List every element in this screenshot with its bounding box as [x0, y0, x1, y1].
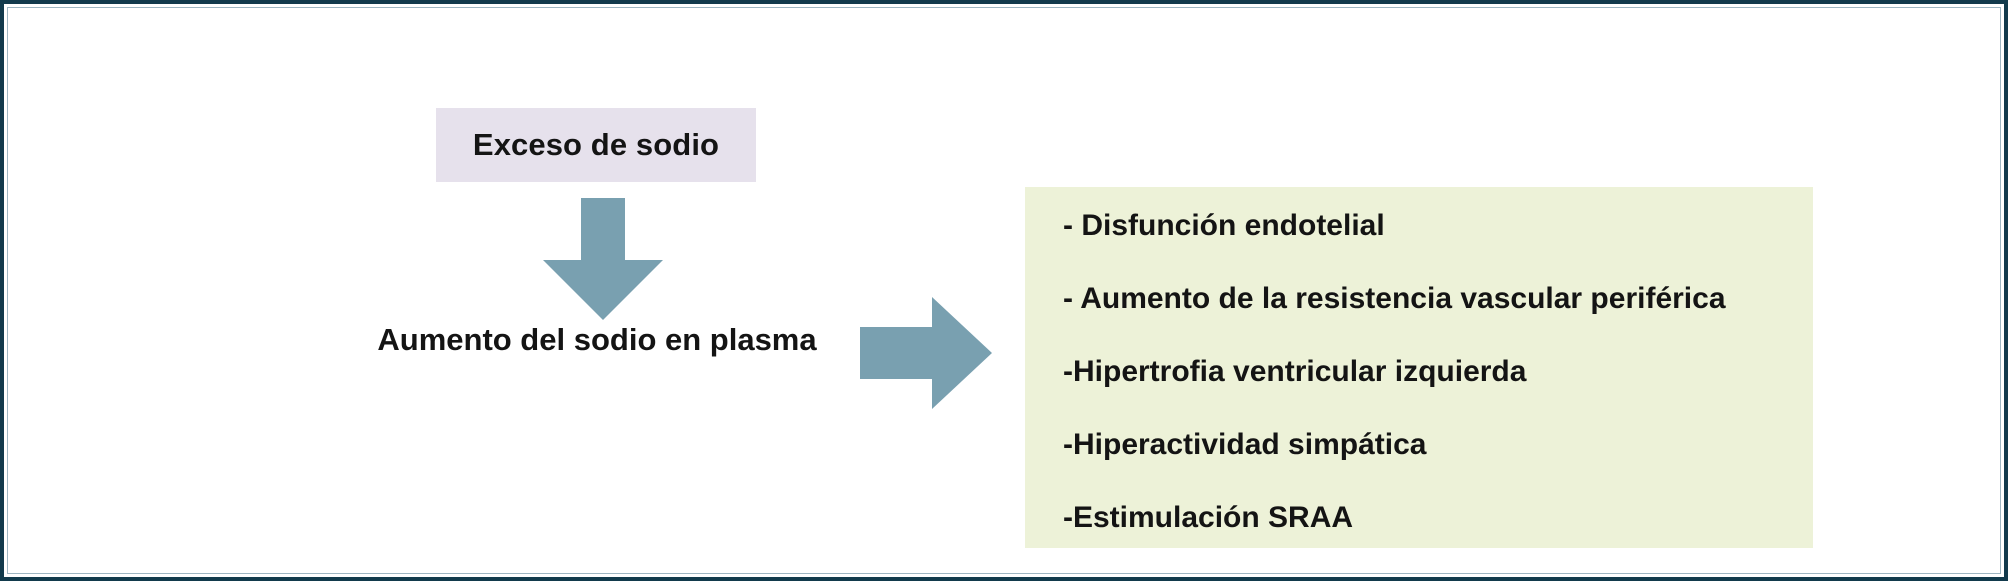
right-arrow [860, 297, 992, 409]
figure-canvas: Exceso de sodio Aumento del sodio en pla… [0, 0, 2008, 581]
list-item: - Disfunción endotelial [1063, 211, 1803, 241]
down-arrow-icon [543, 198, 663, 320]
consequences-list: - Disfunción endotelial - Aumento de la … [1063, 211, 1803, 533]
list-item: -Estimulación SRAA [1063, 503, 1803, 533]
down-arrow [543, 198, 663, 320]
node-consequences-box: - Disfunción endotelial - Aumento de la … [1025, 187, 1813, 548]
list-item: - Aumento de la resistencia vascular per… [1063, 284, 1803, 314]
node-exceso-de-sodio: Exceso de sodio [436, 108, 756, 182]
list-item: -Hiperactividad simpática [1063, 430, 1803, 460]
node-exceso-de-sodio-label: Exceso de sodio [473, 127, 719, 163]
list-item: -Hipertrofia ventricular izquierda [1063, 357, 1803, 387]
node-aumento-sodio-plasma: Aumento del sodio en plasma [357, 322, 837, 358]
right-arrow-icon [860, 297, 992, 409]
